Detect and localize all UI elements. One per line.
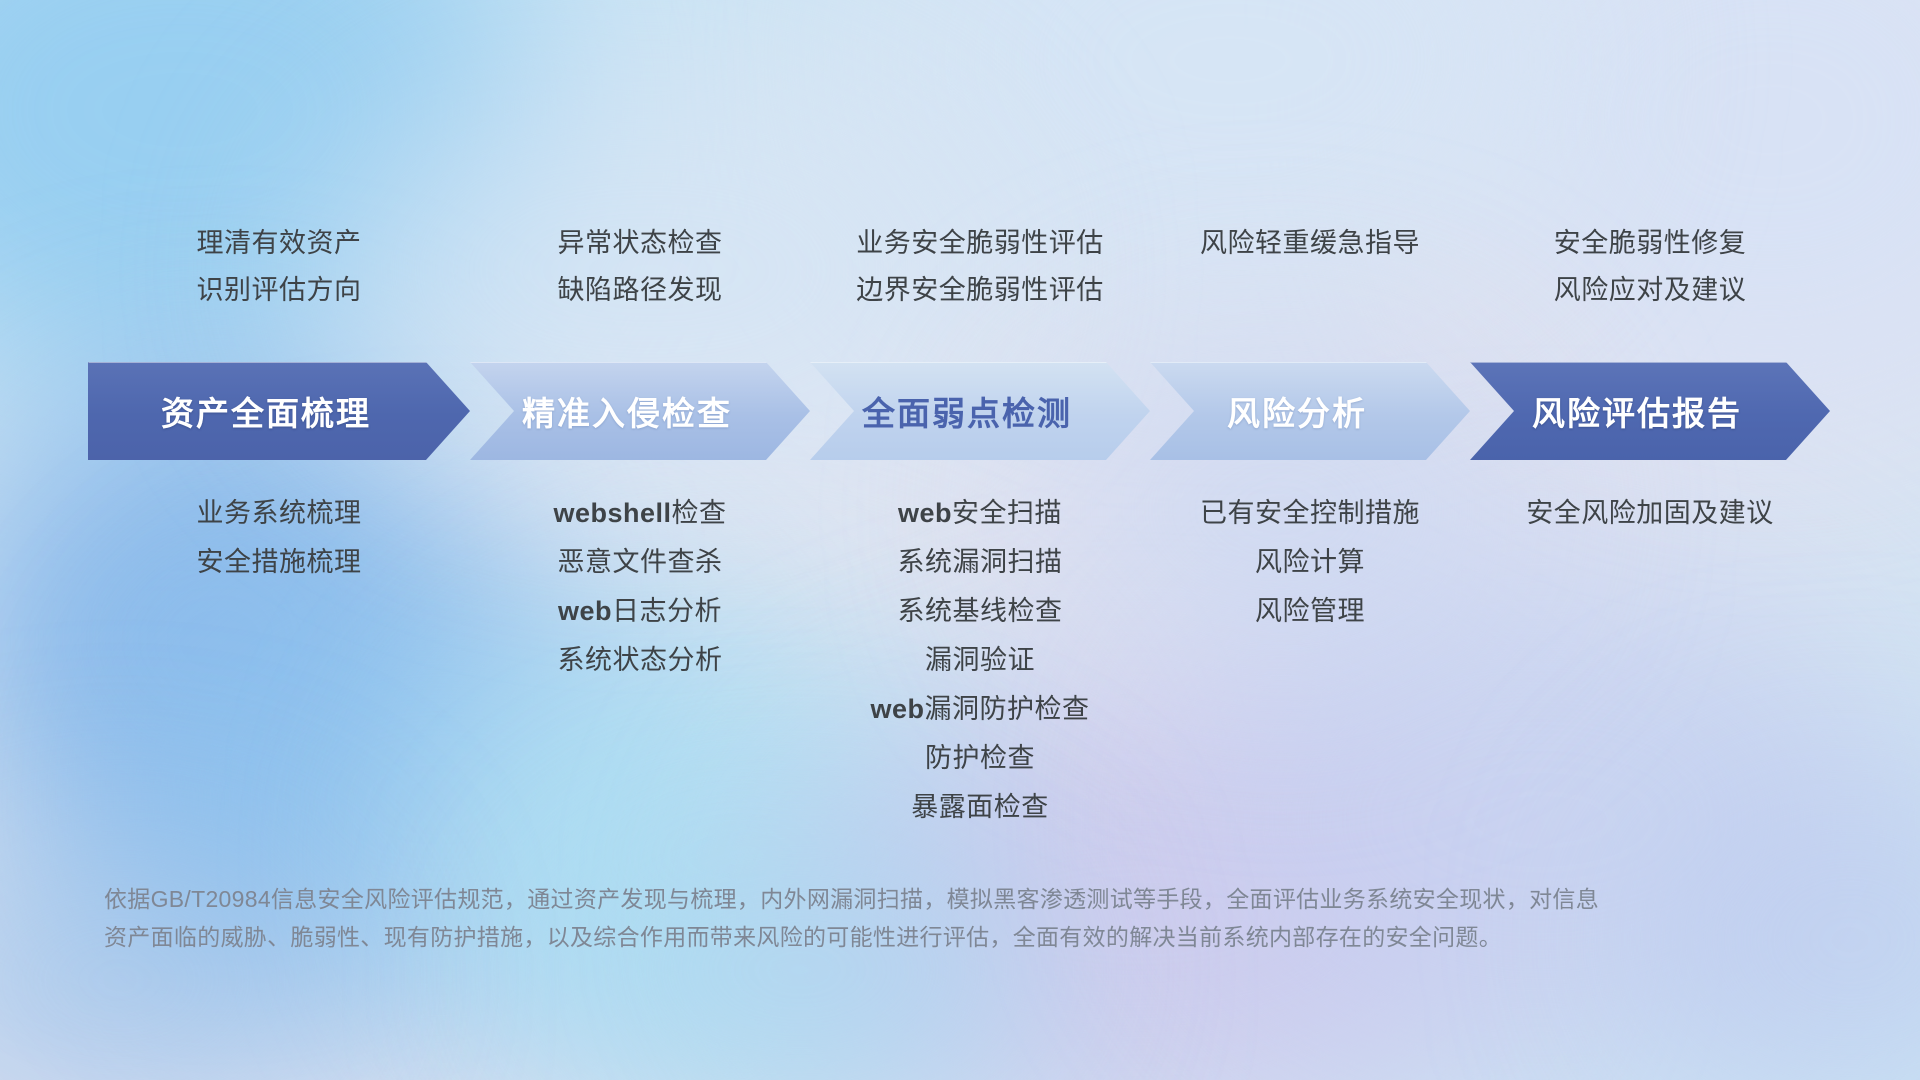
bottom-column-1: webshell检查 恶意文件查杀 web日志分析 系统状态分析	[470, 498, 810, 676]
list-item: 漏洞验证	[925, 645, 1035, 676]
top-item: 识别评估方向	[197, 275, 362, 306]
list-item: 风险计算	[1255, 547, 1365, 578]
item-cjk: 业务系统梳理	[197, 498, 362, 528]
list-item: 风险管理	[1255, 596, 1365, 627]
item-cjk: 安全风险加固及建议	[1526, 498, 1774, 528]
item-cjk: 安全措施梳理	[197, 547, 362, 577]
top-column-1: 异常状态检查 缺陷路径发现	[470, 228, 810, 306]
chevron-label: 精准入侵检查	[522, 387, 758, 435]
list-item: 系统基线检查	[898, 596, 1063, 627]
footer-description: 依据GB/T20984信息安全风险评估规范，通过资产发现与梳理，内外网漏洞扫描，…	[104, 880, 1664, 956]
bottom-lists-row: 业务系统梳理 安全措施梳理 webshell检查 恶意文件查杀 web日志分析 …	[88, 498, 1848, 823]
list-item: web日志分析	[558, 596, 722, 627]
list-item: 恶意文件查杀	[558, 547, 723, 578]
top-item: 边界安全脆弱性评估	[856, 275, 1104, 306]
chevron-stage-1[interactable]: 资产全面梳理	[88, 362, 470, 460]
item-cjk: 安全扫描	[952, 498, 1062, 528]
chevron-label: 风险评估报告	[1532, 387, 1768, 435]
item-cjk: 风险计算	[1255, 547, 1365, 577]
item-cjk: 暴露面检查	[911, 792, 1049, 822]
item-latin: web	[870, 694, 924, 724]
bottom-column-0: 业务系统梳理 安全措施梳理	[88, 498, 470, 578]
list-item: 业务系统梳理	[197, 498, 362, 529]
top-item: 安全脆弱性修复	[1554, 228, 1747, 259]
chevron-stage-2[interactable]: 精准入侵检查	[470, 362, 810, 460]
item-cjk: 已有安全控制措施	[1200, 498, 1420, 528]
chevron-stage-3[interactable]: 全面弱点检测	[810, 362, 1150, 460]
list-item: 系统漏洞扫描	[898, 547, 1063, 578]
item-cjk: 系统漏洞扫描	[898, 547, 1063, 577]
list-item: 安全措施梳理	[197, 547, 362, 578]
footer-line-2: 资产面临的威胁、脆弱性、现有防护措施，以及综合作用而带来风险的可能性进行评估，全…	[104, 918, 1664, 956]
chevron-stage-5[interactable]: 风险评估报告	[1470, 362, 1830, 460]
list-item: 安全风险加固及建议	[1526, 498, 1774, 529]
item-cjk: 风险管理	[1255, 596, 1365, 626]
footer-line-1: 依据GB/T20984信息安全风险评估规范，通过资产发现与梳理，内外网漏洞扫描，…	[104, 880, 1664, 918]
item-cjk: 日志分析	[612, 596, 722, 626]
top-item: 异常状态检查	[558, 228, 723, 259]
list-item: 系统状态分析	[558, 645, 723, 676]
top-column-4: 安全脆弱性修复 风险应对及建议	[1470, 228, 1830, 306]
item-cjk: 漏洞防护检查	[925, 694, 1090, 724]
chevron-label: 资产全面梳理	[161, 387, 397, 435]
item-latin: web	[558, 596, 612, 626]
item-cjk: 检查	[672, 498, 727, 528]
top-item: 理清有效资产	[197, 228, 362, 259]
top-item: 缺陷路径发现	[558, 275, 723, 306]
bottom-column-3: 已有安全控制措施 风险计算 风险管理	[1150, 498, 1470, 627]
top-labels-row: 理清有效资产 识别评估方向 异常状态检查 缺陷路径发现 业务安全脆弱性评估 边界…	[88, 228, 1848, 306]
bottom-column-2: web安全扫描 系统漏洞扫描 系统基线检查 漏洞验证 web漏洞防护检查 防护检…	[810, 498, 1150, 823]
top-column-0: 理清有效资产 识别评估方向	[88, 228, 470, 306]
top-column-2: 业务安全脆弱性评估 边界安全脆弱性评估	[810, 228, 1150, 306]
slide-canvas: 理清有效资产 识别评估方向 异常状态检查 缺陷路径发现 业务安全脆弱性评估 边界…	[0, 0, 1920, 1080]
item-latin: webshell	[553, 498, 671, 528]
item-cjk: 防护检查	[925, 743, 1035, 773]
top-item: 风险应对及建议	[1554, 275, 1747, 306]
chevron-stage-4[interactable]: 风险分析	[1150, 362, 1470, 460]
top-item: 风险轻重缓急指导	[1200, 228, 1420, 259]
top-column-3: 风险轻重缓急指导	[1150, 228, 1470, 306]
list-item: web安全扫描	[898, 498, 1062, 529]
list-item: 防护检查	[925, 743, 1035, 774]
list-item: 暴露面检查	[911, 792, 1049, 823]
chevron-label: 风险分析	[1227, 387, 1393, 435]
list-item: webshell检查	[553, 498, 726, 529]
top-item: 业务安全脆弱性评估	[856, 228, 1104, 259]
list-item: web漏洞防护检查	[870, 694, 1089, 725]
item-cjk: 漏洞验证	[925, 645, 1035, 675]
item-cjk: 恶意文件查杀	[558, 547, 723, 577]
bottom-column-4: 安全风险加固及建议	[1470, 498, 1830, 529]
chevron-label: 全面弱点检测	[862, 387, 1098, 435]
item-cjk: 系统状态分析	[558, 645, 723, 675]
item-latin: web	[898, 498, 952, 528]
list-item: 已有安全控制措施	[1200, 498, 1420, 529]
item-cjk: 系统基线检查	[898, 596, 1063, 626]
process-chevron-band: 资产全面梳理 精准入侵检查 全面弱点检测 风险分析 风险评估报告	[88, 362, 1848, 460]
